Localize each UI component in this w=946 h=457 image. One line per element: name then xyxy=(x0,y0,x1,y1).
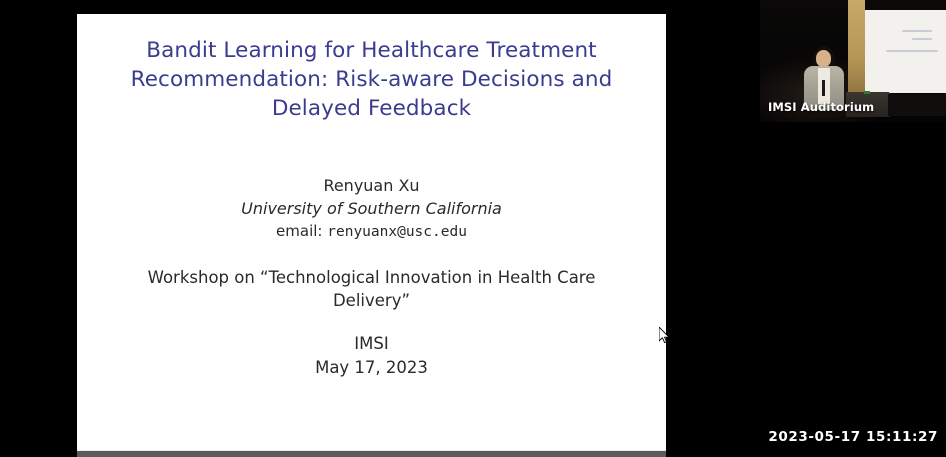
speaker-face xyxy=(817,52,830,67)
venue-date: May 17, 2023 xyxy=(107,356,636,380)
stage-desk xyxy=(888,94,946,116)
screen-share-viewer: Bandit Learning for Healthcare Treatment… xyxy=(0,0,946,457)
email-label: email: xyxy=(276,222,322,240)
workshop-block: Workshop on “Technological Innovation in… xyxy=(107,266,636,312)
slide-content: Bandit Learning for Healthcare Treatment… xyxy=(77,14,666,450)
author-email: email: renyuanx@usc.edu xyxy=(107,220,636,244)
slide-title: Bandit Learning for Healthcare Treatment… xyxy=(107,36,636,123)
author-name: Renyuan Xu xyxy=(107,175,636,197)
email-address: renyuanx@usc.edu xyxy=(327,224,467,240)
slide-title-line-2: Recommendation: Risk-aware Decisions and xyxy=(107,65,636,94)
speaker-webcam-tile[interactable]: IMSI Auditorium xyxy=(760,0,946,122)
slide-title-line-1: Bandit Learning for Healthcare Treatment xyxy=(107,36,636,65)
webcam-label: IMSI Auditorium xyxy=(768,100,874,114)
venue-organization: IMSI xyxy=(107,332,636,356)
recording-timestamp: 2023-05-17 15:11:27 xyxy=(768,429,938,445)
workshop-line-2: Delivery” xyxy=(107,289,636,312)
venue-block: IMSI May 17, 2023 xyxy=(107,332,636,380)
laptop-led-icon xyxy=(864,91,870,94)
presentation-slide: Bandit Learning for Healthcare Treatment… xyxy=(77,14,666,450)
author-block: Renyuan Xu University of Southern Califo… xyxy=(107,175,636,244)
slide-title-line-3: Delayed Feedback xyxy=(107,94,636,123)
workshop-line-1: Workshop on “Technological Innovation in… xyxy=(107,266,636,289)
projected-slide-on-wall xyxy=(856,10,946,93)
microphone xyxy=(822,80,825,96)
mouse-cursor-icon xyxy=(659,327,671,345)
wall-panel xyxy=(848,0,865,96)
slide-bottom-bar xyxy=(77,450,666,457)
author-affiliation: University of Southern California xyxy=(107,197,636,220)
projected-slide-text-lines xyxy=(856,10,946,93)
